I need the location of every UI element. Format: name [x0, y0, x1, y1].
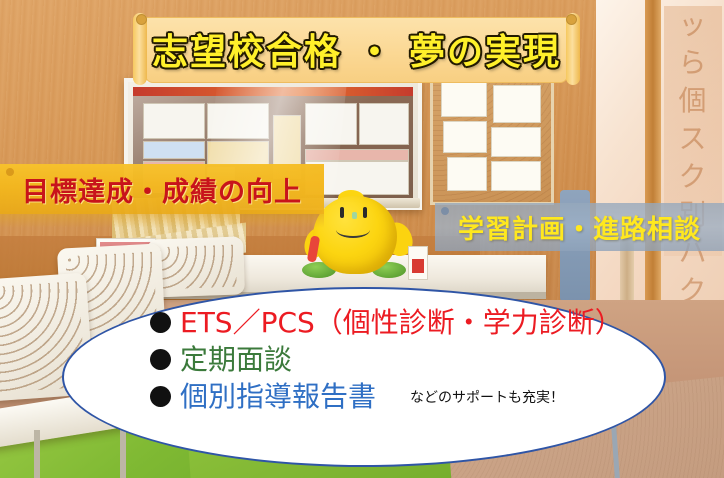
cork-sheet: [443, 121, 487, 153]
door-frame: [645, 0, 661, 306]
bullet-dot-icon: [150, 386, 171, 407]
cork-sheet: [491, 161, 541, 191]
list-item: ETS／PCS（個性診断・学力診断）: [150, 304, 620, 341]
banner-top-text: 志望校合格 ・ 夢の実現: [133, 17, 580, 81]
cork-sheet: [491, 127, 541, 157]
banner-left-shadow: [0, 214, 324, 228]
callout-suffix-text: などのサポートも充実！: [410, 387, 564, 407]
list-item-label: 定期面談: [180, 346, 292, 374]
product-box: [408, 246, 428, 280]
banner-right-text: 学習計画・進路相談: [435, 203, 724, 251]
banner-top-scroll: 志望校合格 ・ 夢の実現: [133, 17, 580, 81]
bullet-dot-icon: [150, 312, 171, 333]
bullet-dot-icon: [150, 349, 171, 370]
mascot-nose: [352, 212, 357, 219]
poster-cell: [359, 103, 409, 145]
mascot-eye-right: [363, 207, 367, 218]
callout-bullet-list: ETS／PCS（個性診断・学力診断） 定期面談 個別指導報告書 などのサポートも…: [150, 304, 620, 415]
cork-sheet: [493, 85, 541, 123]
banner-left-text: 目標達成・成績の向上: [0, 164, 324, 214]
list-item: 定期面談: [150, 341, 620, 378]
promo-banner-image: ッ ら 個 ス ク 別 ハ ク ス 志望校合格 ・ 夢の実現 目標達成・成績の向…: [0, 0, 724, 478]
table-leg: [34, 430, 40, 478]
cork-sheet: [447, 157, 487, 191]
mascot-eye-left: [340, 207, 344, 218]
list-item: 個別指導報告書 などのサポートも充実！: [150, 378, 620, 415]
list-item-label: 個別指導報告書: [180, 383, 376, 411]
poster-cell: [143, 103, 205, 139]
mascot-mouth: [336, 222, 370, 238]
poster-cell: [143, 141, 205, 159]
list-item-label: ETS／PCS（個性診断・学力診断）: [180, 309, 623, 337]
